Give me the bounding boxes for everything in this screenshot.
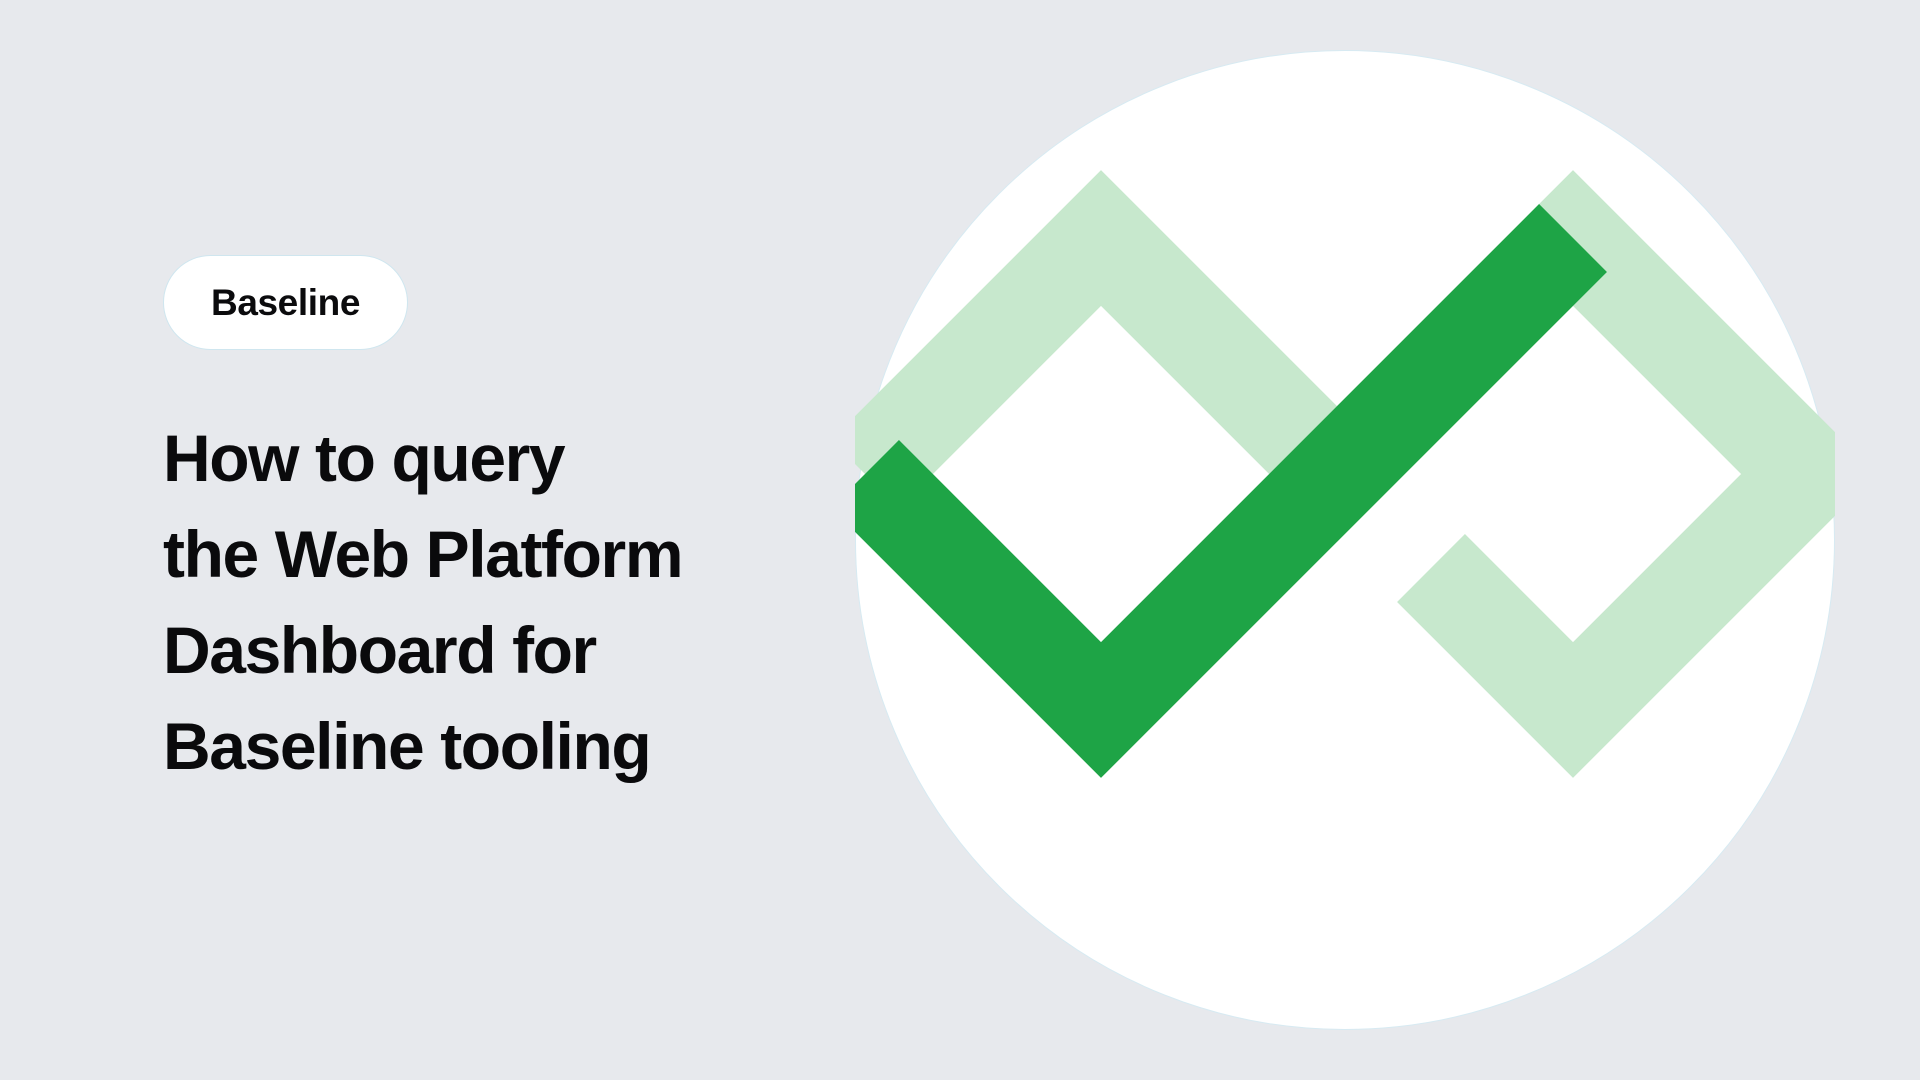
page-title-line-1: How to query (163, 410, 843, 506)
baseline-badge: Baseline (163, 255, 408, 350)
baseline-logo (855, 50, 1835, 1030)
page-title-line-2: the Web Platform (163, 506, 843, 602)
baseline-check-icon (855, 50, 1835, 1030)
baseline-badge-label: Baseline (211, 284, 360, 321)
page-title-line-3: Dashboard for (163, 602, 843, 698)
page-title: How to query the Web Platform Dashboard … (163, 410, 843, 794)
banner-root: Baseline How to query the Web Platform D… (0, 0, 1920, 1080)
text-column: Baseline How to query the Web Platform D… (163, 255, 843, 794)
page-title-line-4: Baseline tooling (163, 698, 843, 794)
